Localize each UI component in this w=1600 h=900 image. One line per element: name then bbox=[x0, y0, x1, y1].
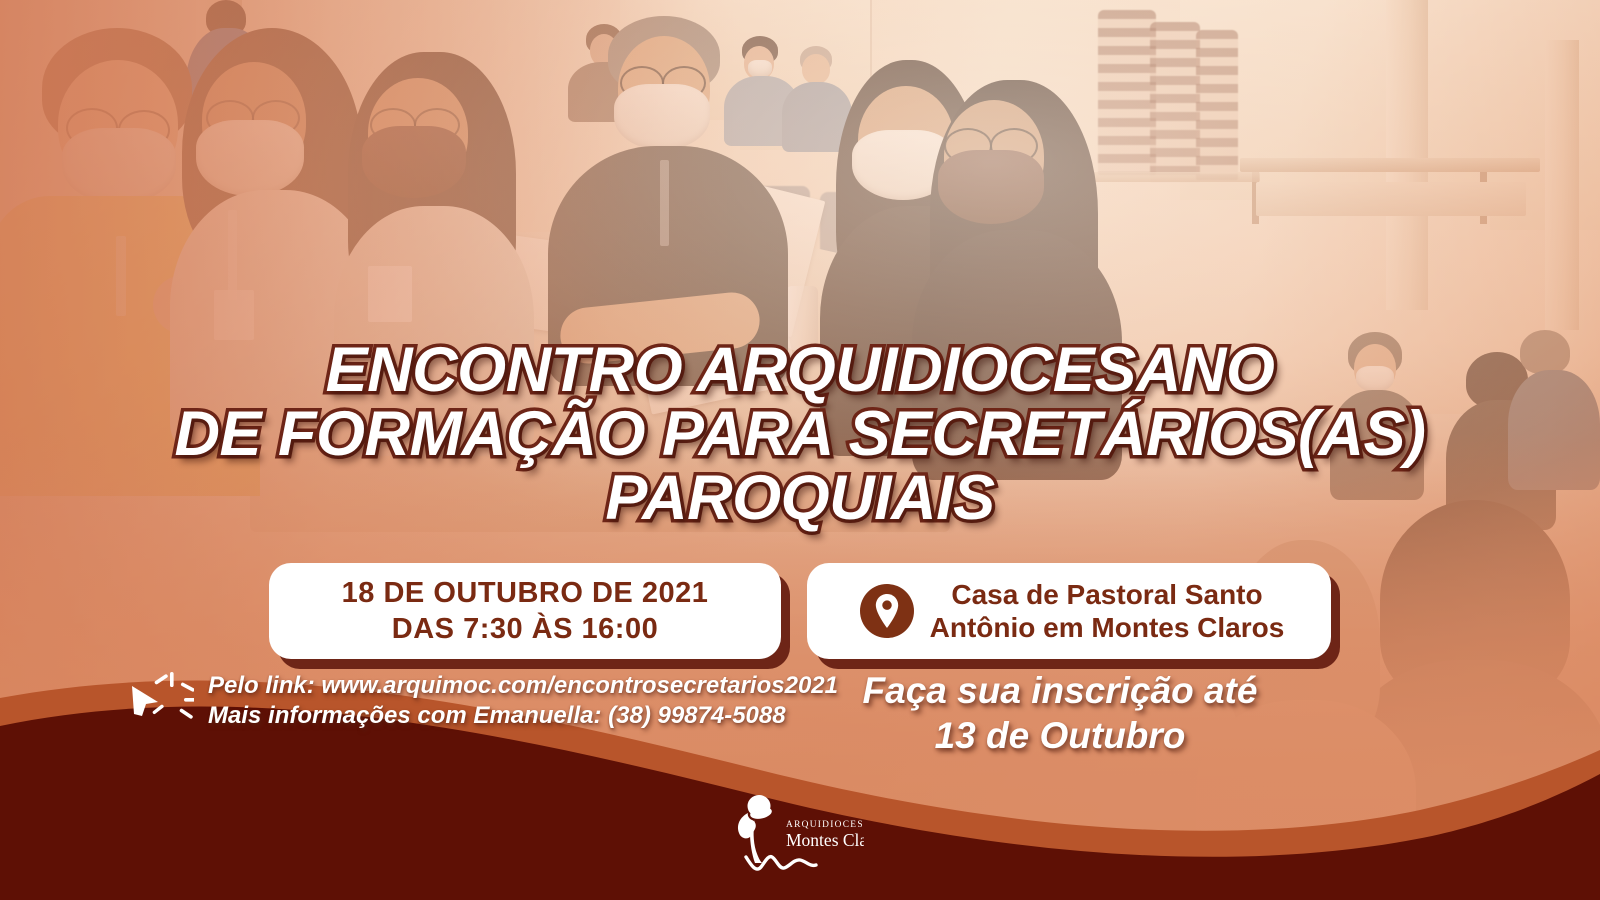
link-line-2: Mais informações com Emanuella: (38) 998… bbox=[208, 701, 838, 731]
location-text: Casa de Pastoral Santo Antônio em Montes… bbox=[930, 578, 1285, 644]
time-line: DAS 7:30 ÀS 16:00 bbox=[392, 611, 658, 647]
registration-link-block: Pelo link: www.arquimoc.com/encontrosecr… bbox=[128, 668, 838, 734]
click-cursor-icon bbox=[128, 668, 194, 734]
info-boxes: 18 DE OUTUBRO DE 2021 DAS 7:30 ÀS 16:00 … bbox=[0, 563, 1600, 659]
logo-top-text: ARQUIDIOCESE DE bbox=[786, 820, 864, 830]
title-line-2: DE FORMAÇÃO PARA SECRETÁRIOS(AS) bbox=[0, 402, 1600, 466]
location-box: Casa de Pastoral Santo Antônio em Montes… bbox=[807, 563, 1331, 659]
location-line-1: Casa de Pastoral Santo bbox=[930, 578, 1285, 611]
link-text: Pelo link: www.arquimoc.com/encontrosecr… bbox=[208, 671, 838, 731]
title-line-3: PAROQUIAIS bbox=[0, 466, 1600, 530]
link-line-1: Pelo link: www.arquimoc.com/encontrosecr… bbox=[208, 671, 838, 701]
map-pin-icon bbox=[860, 584, 914, 638]
poster-title: ENCONTRO ARQUIDIOCESANO DE FORMAÇÃO PARA… bbox=[0, 338, 1600, 530]
location-line-2: Antônio em Montes Claros bbox=[930, 611, 1285, 644]
diocese-logo: ARQUIDIOCESE DE Montes Claros bbox=[724, 793, 864, 875]
deadline-cta: Faça sua inscrição até 13 de Outubro bbox=[840, 668, 1280, 758]
logo-main-text: Montes Claros bbox=[786, 830, 864, 850]
title-line-1: ENCONTRO ARQUIDIOCESANO bbox=[0, 338, 1600, 402]
event-poster: ENCONTRO ARQUIDIOCESANO DE FORMAÇÃO PARA… bbox=[0, 0, 1600, 900]
date-time-box: 18 DE OUTUBRO DE 2021 DAS 7:30 ÀS 16:00 bbox=[269, 563, 781, 659]
cta-line-1: Faça sua inscrição até bbox=[840, 668, 1280, 713]
date-line: 18 DE OUTUBRO DE 2021 bbox=[342, 575, 709, 611]
cta-line-2: 13 de Outubro bbox=[840, 713, 1280, 758]
